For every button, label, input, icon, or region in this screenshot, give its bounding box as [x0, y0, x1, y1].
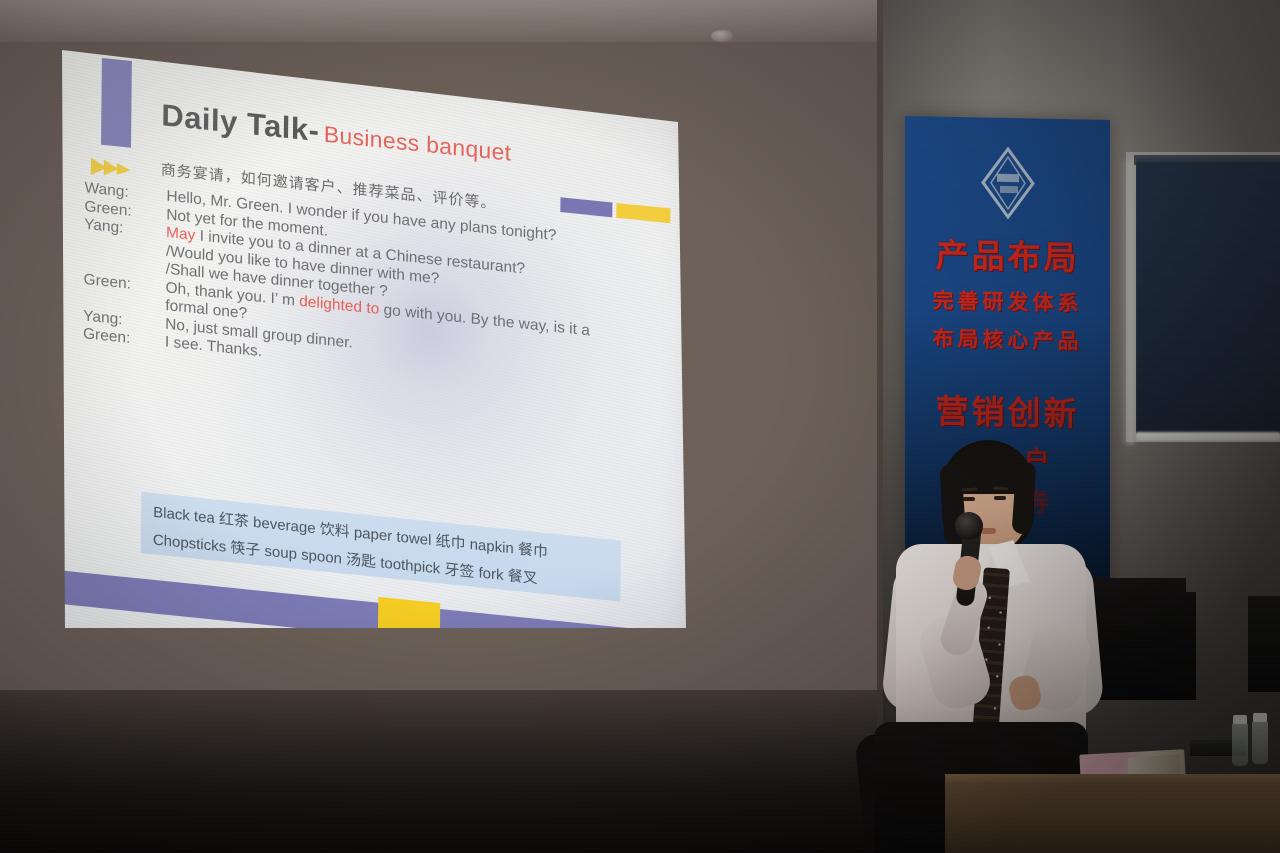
ceiling-fixture-icon — [711, 30, 733, 42]
floor-shadow — [0, 690, 905, 853]
slide-title-main: Daily Talk- — [161, 98, 319, 149]
monitor — [1248, 596, 1280, 692]
slide-title: Daily Talk- Business banquet — [161, 98, 511, 169]
window-side-light — [1120, 160, 1134, 445]
microphone-head — [955, 512, 983, 540]
decor-top-right — [560, 197, 670, 223]
water-bottle-1 — [1232, 722, 1248, 766]
photo-scene: Daily Talk- Business banquet 商务宴请，如何邀请客户… — [0, 0, 1280, 853]
decor-purple-bar-left — [101, 58, 132, 148]
slide-title-sub: Business banquet — [324, 121, 512, 166]
bottle-cap-1 — [1233, 715, 1247, 724]
dialogue-text-highlight: May — [166, 224, 195, 244]
decor-yellow-chip — [616, 203, 670, 223]
podium — [945, 782, 1280, 853]
slide-content: Daily Talk- Business banquet 商务宴请，如何邀请客户… — [56, 50, 683, 682]
roller-blind — [1136, 162, 1280, 434]
bottle-cap-2 — [1253, 713, 1267, 722]
water-bottle-2 — [1252, 720, 1268, 764]
presenter-eye-right — [994, 496, 1006, 500]
blind-light-leak — [1136, 432, 1280, 441]
triangle-arrow-icon — [91, 155, 137, 181]
ceiling-strip — [0, 0, 905, 42]
decor-purple-chip — [560, 197, 612, 217]
presenter-eye-left — [963, 497, 975, 501]
